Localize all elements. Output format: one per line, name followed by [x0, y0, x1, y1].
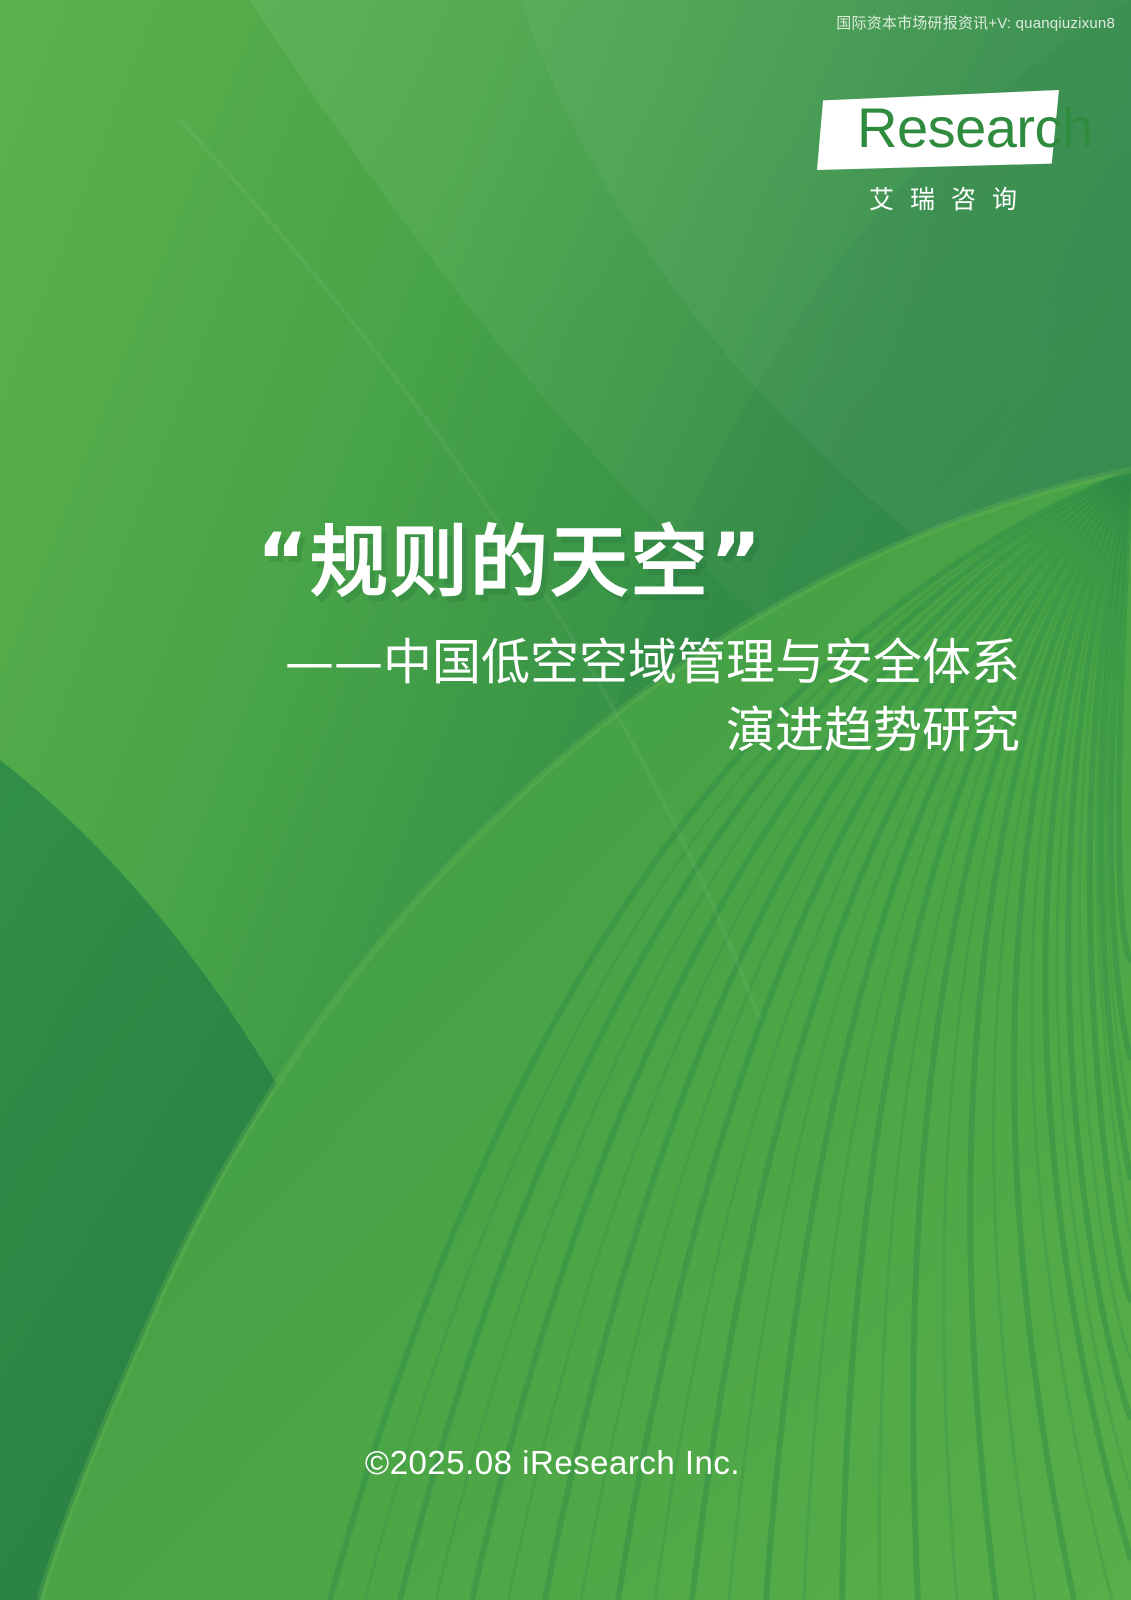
copyright-text: ©2025.08 iResearch Inc. [0, 1444, 1105, 1482]
cover-page: 国际资本市场研报资讯+V: quanqiuzixun8 i Research 艾… [0, 0, 1131, 1600]
title-block: “规则的天空” ——中国低空空域管理与安全体系 演进趋势研究 [0, 520, 1131, 765]
background-artwork [0, 0, 1131, 1600]
subtitle-line-2: 演进趋势研究 [0, 697, 1020, 765]
watermark-text: 国际资本市场研报资讯+V: quanqiuzixun8 [836, 12, 1115, 33]
subtitle-line-1: ——中国低空空域管理与安全体系 [0, 629, 1020, 697]
logo-letter-i: i [821, 96, 838, 158]
logo-chinese-name: 艾瑞咨询 [827, 180, 1059, 216]
logo-mark: i Research [791, 88, 1059, 174]
subtitle: ——中国低空空域管理与安全体系 演进趋势研究 [0, 629, 1020, 764]
main-title: “规则的天空” [0, 520, 1020, 607]
iresearch-logo: i Research 艾瑞咨询 [791, 88, 1059, 218]
logo-wordmark: Research [857, 100, 1093, 156]
